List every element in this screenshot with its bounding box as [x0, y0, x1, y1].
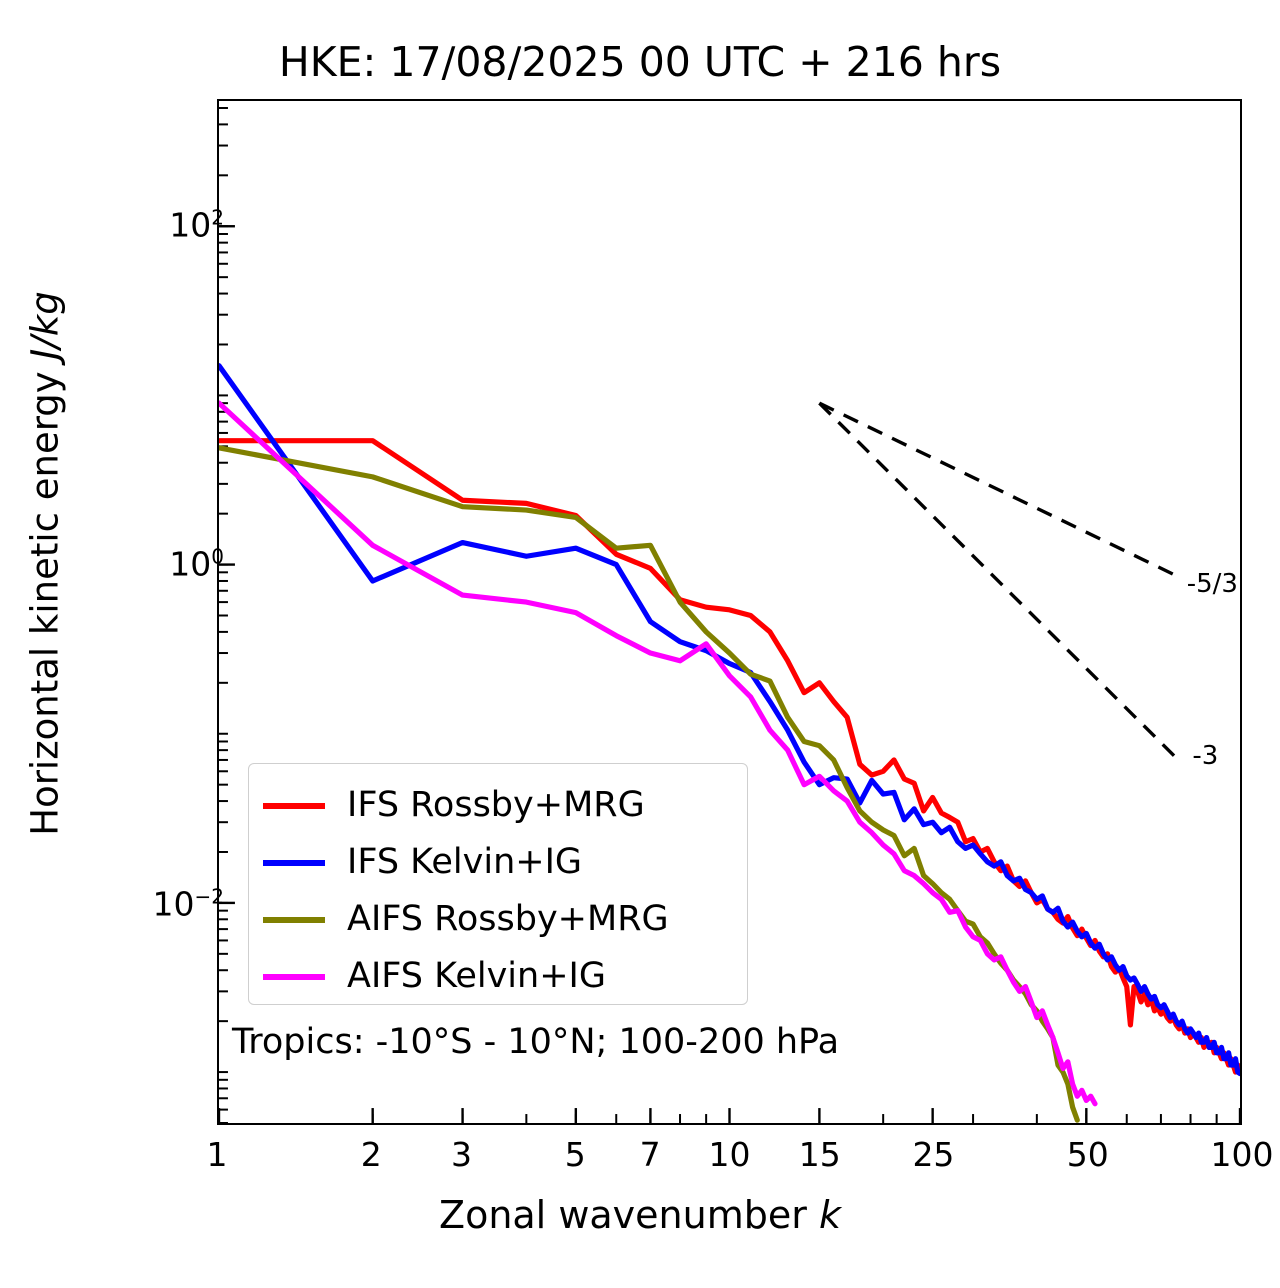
legend-item[interactable]: AIFS Kelvin+IG	[249, 948, 747, 1005]
data-series-layer	[219, 366, 1240, 1120]
legend-label: IFS Kelvin+IG	[347, 845, 582, 880]
legend-item[interactable]: IFS Kelvin+IG	[249, 834, 747, 891]
x-tick-label: 100	[1211, 1135, 1274, 1174]
legend-label: IFS Rossby+MRG	[347, 788, 645, 823]
slope-reference-lines	[819, 403, 1176, 758]
chart-title: HKE: 17/08/2025 00 UTC + 216 hrs	[0, 38, 1280, 86]
slope-reference-line	[819, 403, 1176, 576]
region-annotation: Tropics: -10°S - 10°N; 100-200 hPa	[232, 1022, 839, 1062]
x-tick-label: 10	[709, 1135, 751, 1174]
legend-label: AIFS Kelvin+IG	[347, 959, 606, 994]
y-axis-label-symbol: J/kg	[24, 291, 67, 359]
legend-color-swatch	[263, 860, 325, 866]
x-tick-label: 3	[451, 1135, 472, 1174]
legend-color-swatch	[263, 974, 325, 980]
x-axis-label-symbol: k	[819, 1193, 841, 1237]
x-axis-label-text: Zonal wavenumber	[439, 1193, 819, 1237]
x-tick-label: 7	[640, 1135, 661, 1174]
slope-reference-line	[819, 403, 1176, 758]
slope-annotation-label: -3	[1192, 741, 1218, 771]
y-axis-label: Horizontal kinetic energy J/kg	[24, 0, 67, 1164]
x-tick-label: 50	[1067, 1135, 1109, 1174]
y-tick-label: 100	[169, 545, 224, 584]
x-tick-label: 1	[207, 1135, 228, 1174]
slope-annotation-label: -5/3	[1187, 569, 1238, 599]
legend-label: AIFS Rossby+MRG	[347, 902, 669, 937]
chart-legend[interactable]: IFS Rossby+MRGIFS Kelvin+IGAIFS Rossby+M…	[248, 763, 748, 1005]
y-axis-label-text: Horizontal kinetic energy	[24, 360, 67, 836]
legend-color-swatch	[263, 803, 325, 809]
x-axis-label: Zonal wavenumber k	[0, 1193, 1280, 1237]
y-tick-label: 102	[169, 205, 224, 244]
x-tick-label: 15	[799, 1135, 841, 1174]
y-tick-label: 10−2	[153, 885, 224, 924]
legend-item[interactable]: IFS Rossby+MRG	[249, 777, 747, 834]
legend-item[interactable]: AIFS Rossby+MRG	[249, 891, 747, 948]
x-tick-label: 5	[565, 1135, 586, 1174]
x-tick-label: 25	[912, 1135, 954, 1174]
x-tick-label: 2	[361, 1135, 382, 1174]
chart-figure: HKE: 17/08/2025 00 UTC + 216 hrs Horizon…	[0, 0, 1280, 1288]
legend-color-swatch	[263, 917, 325, 923]
